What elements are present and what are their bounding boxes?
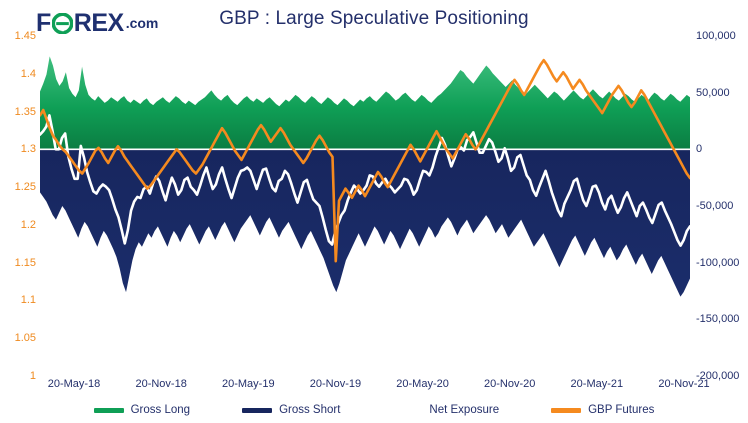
legend-label: Gross Long xyxy=(131,404,190,416)
y-axis-right-tick: 0 xyxy=(696,143,702,155)
x-axis-tick: 20-Nov-20 xyxy=(484,378,535,390)
legend-label: GBP Futures xyxy=(588,404,654,416)
legend-swatch-icon xyxy=(392,408,422,413)
y-axis-left-tick: 1.35 xyxy=(15,106,36,118)
y-axis-left-tick: 1.1 xyxy=(21,294,36,306)
x-axis-tick: 20-May-21 xyxy=(571,378,624,390)
legend-item[interactable]: Net Exposure xyxy=(392,404,499,416)
y-axis-left-tick: 1.3 xyxy=(21,143,36,155)
y-axis-left-tick: 1.25 xyxy=(15,181,36,193)
x-axis-tick: 20-Nov-18 xyxy=(135,378,186,390)
series-gross-short xyxy=(40,149,690,296)
x-axis-tick: 20-Nov-21 xyxy=(658,378,709,390)
chart-legend: Gross LongGross ShortNet ExposureGBP Fut… xyxy=(0,401,748,419)
x-axis-tick: 20-Nov-19 xyxy=(310,378,361,390)
chart-plot-area xyxy=(40,36,690,376)
legend-item[interactable]: Gross Long xyxy=(94,404,190,416)
legend-swatch-icon xyxy=(94,408,124,413)
x-axis: 20-May-1820-Nov-1820-May-1920-Nov-1920-M… xyxy=(40,378,690,398)
y-axis-right-tick: 100,000 xyxy=(696,30,736,42)
y-axis-left: 1.451.41.351.31.251.21.151.11.051 xyxy=(0,36,36,376)
series-gross-long xyxy=(40,56,690,149)
x-axis-tick: 20-May-18 xyxy=(48,378,101,390)
chart-page: F REX .com GBP : Large Speculative Posit… xyxy=(0,0,748,423)
y-axis-left-tick: 1.45 xyxy=(15,30,36,42)
page-title: GBP : Large Speculative Positioning xyxy=(0,8,748,30)
legend-label: Net Exposure xyxy=(429,404,499,416)
legend-item[interactable]: GBP Futures xyxy=(551,404,654,416)
x-axis-tick: 20-May-20 xyxy=(396,378,449,390)
legend-label: Gross Short xyxy=(279,404,340,416)
legend-swatch-icon xyxy=(242,408,272,413)
y-axis-right: 100,00050,0000-50,000-100,000-150,000-20… xyxy=(696,36,748,376)
y-axis-left-tick: 1.4 xyxy=(21,68,36,80)
chart-svg xyxy=(40,36,690,376)
y-axis-right-tick: -100,000 xyxy=(696,257,739,269)
y-axis-right-tick: -150,000 xyxy=(696,313,739,325)
y-axis-left-tick: 1.2 xyxy=(21,219,36,231)
legend-swatch-icon xyxy=(551,408,581,413)
y-axis-right-tick: 50,000 xyxy=(696,87,730,99)
y-axis-right-tick: -50,000 xyxy=(696,200,733,212)
legend-item[interactable]: Gross Short xyxy=(242,404,340,416)
y-axis-left-tick: 1.15 xyxy=(15,257,36,269)
y-axis-left-tick: 1 xyxy=(30,370,36,382)
y-axis-left-tick: 1.05 xyxy=(15,332,36,344)
x-axis-tick: 20-May-19 xyxy=(222,378,275,390)
